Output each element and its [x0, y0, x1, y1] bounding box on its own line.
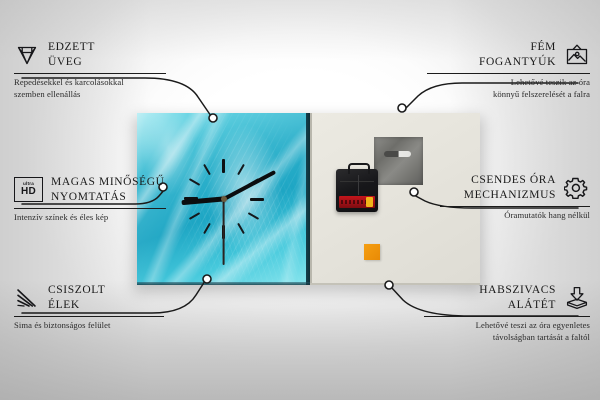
callout-subtitle: Lehetővé teszi az óra egyenletes távolsá… — [424, 320, 590, 343]
callout-subtitle-line1: Repedésekkel és karcolásokkal — [14, 77, 166, 88]
callout-title-line1: EDZETT — [48, 40, 95, 55]
callout-header: ultra HD MAGAS MINŐSÉGŰ NYOMTATÁS — [14, 175, 166, 204]
callout-title: FÉM FOGANTYÚK — [479, 40, 556, 69]
callout-title-line1: HABSZIVACS — [479, 283, 556, 298]
callout-title-line1: MAGAS MINŐSÉGŰ — [51, 175, 165, 190]
callout-subtitle: Óramutatók hang nélkül — [440, 210, 590, 221]
ultra-hd-badge-icon: ultra HD — [14, 177, 43, 202]
callout-divider — [14, 73, 166, 74]
foam-spacer-pad — [364, 244, 380, 260]
callout-header: HABSZIVACS ALÁTÉT — [424, 283, 590, 312]
callout-subtitle: Sima és biztonságos felület — [14, 320, 164, 331]
clock-mechanism-module — [336, 169, 378, 212]
callout-divider — [427, 73, 590, 74]
feature-callout-tempered-glass[interactable]: EDZETT ÜVEG Repedésekkel és karcolásokka… — [14, 40, 166, 100]
callout-subtitle-line2: távolságban tartását a faltól — [424, 332, 590, 343]
callout-title-line2: ALÁTÉT — [479, 298, 556, 313]
ultra-hd-badge-large-label: HD — [21, 187, 36, 197]
callout-divider — [14, 316, 164, 317]
callout-title: MAGAS MINŐSÉGŰ NYOMTATÁS — [51, 175, 165, 204]
back-panel-edge-left — [310, 113, 312, 285]
picture-hanger-icon — [564, 43, 590, 67]
callout-title-line1: CSENDES ÓRA — [464, 173, 556, 188]
callout-subtitle: Repedésekkel és karcolásokkal szemben el… — [14, 77, 166, 100]
callout-title-line2: ÜVEG — [48, 55, 95, 70]
hanger-keyhole-slot — [384, 151, 411, 157]
callout-title-line1: CSISZOLT — [48, 283, 105, 298]
callout-divider — [440, 206, 590, 207]
callout-subtitle-line1: Lehetővé teszik az óra — [427, 77, 590, 88]
callout-title-line2: ÉLEK — [48, 298, 105, 313]
callout-header: CSISZOLT ÉLEK — [14, 283, 164, 312]
callout-subtitle-line1: Intenzív színek és éles kép — [14, 212, 166, 223]
infographic-canvas: EDZETT ÜVEG Repedésekkel és karcolásokka… — [0, 0, 600, 400]
metal-hanger-plate — [374, 137, 423, 185]
clock-second-hand — [223, 199, 225, 265]
clock-center-cap — [221, 196, 227, 202]
mechanism-seam — [340, 181, 374, 182]
callout-title-line2: MECHANIZMUS — [464, 188, 556, 203]
mechanism-seam-2 — [358, 175, 359, 195]
battery-compartment — [339, 196, 375, 208]
callout-subtitle-line1: Sima és biztonságos felület — [14, 320, 164, 331]
callout-divider — [424, 316, 590, 317]
battery-plus-cap — [366, 197, 373, 207]
callout-header: FÉM FOGANTYÚK — [427, 40, 590, 69]
product-image — [137, 113, 480, 285]
diamond-icon — [14, 43, 40, 67]
callout-header: EDZETT ÜVEG — [14, 40, 166, 69]
callout-divider — [14, 208, 166, 209]
callout-subtitle-line2: könnyű felszerelését a falra — [427, 89, 590, 100]
feature-callout-foam-pad[interactable]: HABSZIVACS ALÁTÉT Lehetővé teszi az óra … — [424, 283, 590, 343]
feature-callout-high-quality-print[interactable]: ultra HD MAGAS MINŐSÉGŰ NYOMTATÁS Intenz… — [14, 175, 166, 224]
callout-header: CSENDES ÓRA MECHANIZMUS — [440, 173, 590, 202]
callout-title-line2: FOGANTYÚK — [479, 55, 556, 70]
callout-title-line1: FÉM — [479, 40, 556, 55]
mechanism-handle — [348, 163, 370, 174]
callout-title: EDZETT ÜVEG — [48, 40, 95, 69]
callout-title: CSISZOLT ÉLEK — [48, 283, 105, 312]
callout-title: HABSZIVACS ALÁTÉT — [479, 283, 556, 312]
feature-callout-quiet-mechanism[interactable]: CSENDES ÓRA MECHANIZMUS Óramutatók hang … — [440, 173, 590, 222]
feature-callout-metal-handles[interactable]: FÉM FOGANTYÚK Lehetővé teszik az óra kön… — [427, 40, 590, 100]
callout-subtitle-line1: Óramutatók hang nélkül — [440, 210, 590, 221]
callout-title: CSENDES ÓRA MECHANIZMUS — [464, 173, 556, 202]
gear-icon — [564, 176, 590, 200]
callout-subtitle: Intenzív színek és éles kép — [14, 212, 166, 223]
polished-edges-icon — [14, 286, 40, 310]
callout-subtitle-line2: szemben ellenállás — [14, 89, 166, 100]
foam-pad-arrow-icon — [564, 286, 590, 310]
callout-title-line2: NYOMTATÁS — [51, 190, 165, 205]
battery-label — [341, 200, 367, 204]
callout-subtitle-line1: Lehetővé teszi az óra egyenletes — [424, 320, 590, 331]
callout-subtitle: Lehetővé teszik az óra könnyű felszerelé… — [427, 77, 590, 100]
feature-callout-polished-edges[interactable]: CSISZOLT ÉLEK Sima és biztonságos felüle… — [14, 283, 164, 332]
